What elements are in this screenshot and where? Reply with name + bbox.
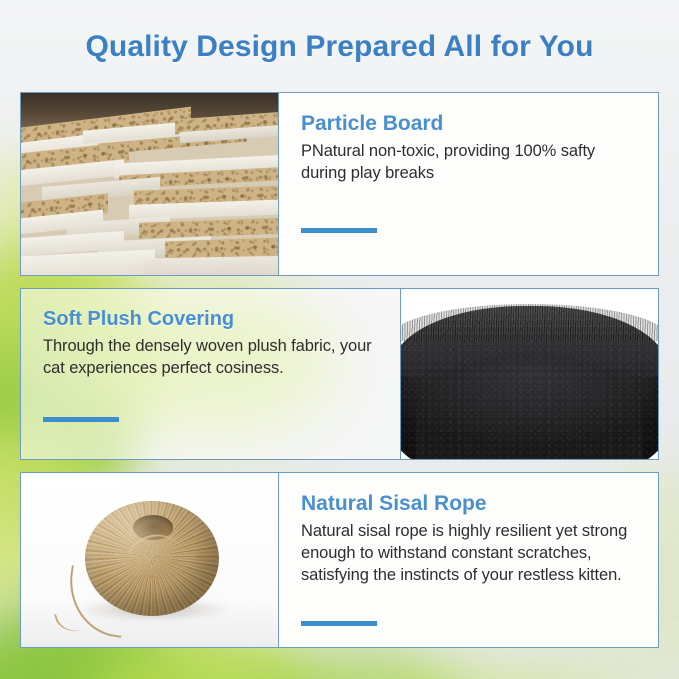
card-title: Particle Board <box>301 111 636 136</box>
page-title: Quality Design Prepared All for You <box>0 30 679 64</box>
accent-bar <box>43 417 119 422</box>
accent-bar <box>301 228 377 233</box>
feature-card-sisal-rope: Natural Sisal Rope Natural sisal rope is… <box>20 472 659 648</box>
infographic-panel: Quality Design Prepared All for You <box>0 0 679 679</box>
particle-board-photo <box>21 93 278 275</box>
card-body: Through the densely woven plush fabric, … <box>43 336 378 380</box>
black-plush-fabric-photo <box>401 289 658 459</box>
particle-board-text: Particle Board PNatural non-toxic, provi… <box>278 93 658 275</box>
sisal-rope-text: Natural Sisal Rope Natural sisal rope is… <box>278 473 658 647</box>
card-body: PNatural non-toxic, providing 100% safty… <box>301 141 636 185</box>
card-body: Natural sisal rope is highly resilient y… <box>301 521 636 586</box>
sisal-rope-ball-photo <box>21 473 278 647</box>
soft-plush-text: Soft Plush Covering Through the densely … <box>21 289 401 459</box>
feature-card-soft-plush: Soft Plush Covering Through the densely … <box>20 288 659 460</box>
accent-bar <box>301 621 377 626</box>
card-title: Natural Sisal Rope <box>301 491 636 516</box>
card-title: Soft Plush Covering <box>43 307 378 331</box>
feature-card-particle-board: Particle Board PNatural non-toxic, provi… <box>20 92 659 276</box>
